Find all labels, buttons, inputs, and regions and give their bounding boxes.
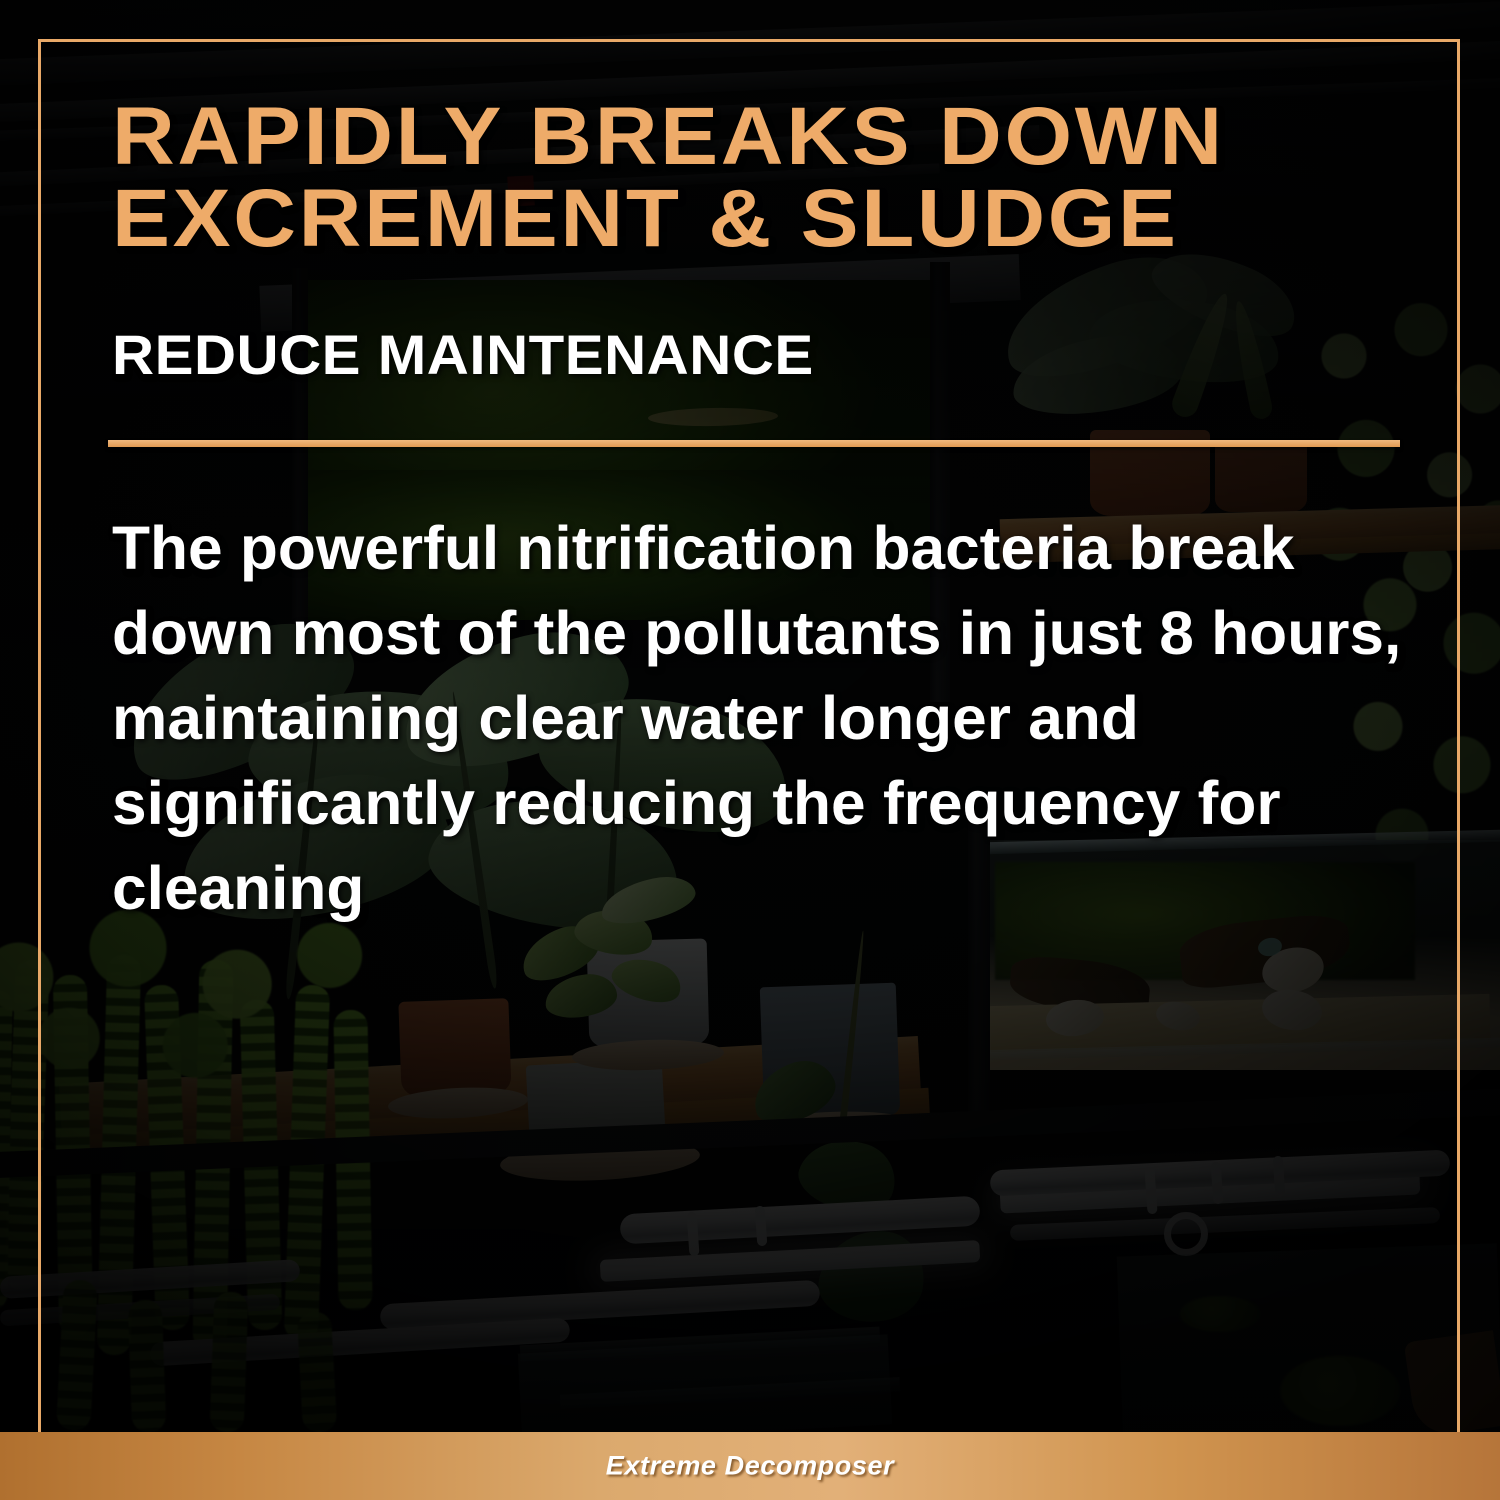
subheadline: REDUCE MAINTENANCE xyxy=(112,325,1360,385)
headline: RAPIDLY BREAKS DOWN EXCREMENT & SLUDGE xyxy=(112,96,1384,260)
section-divider-rule xyxy=(108,440,1400,447)
body-paragraph: The powerful nitrification bacteria brea… xyxy=(112,506,1428,931)
product-name-label: Extreme Decomposer xyxy=(0,1451,1500,1482)
decorative-border-left-extension xyxy=(38,39,41,1500)
promo-image: RAPIDLY BREAKS DOWN EXCREMENT & SLUDGE R… xyxy=(0,0,1500,1500)
footer-band: Extreme Decomposer xyxy=(0,1432,1500,1500)
